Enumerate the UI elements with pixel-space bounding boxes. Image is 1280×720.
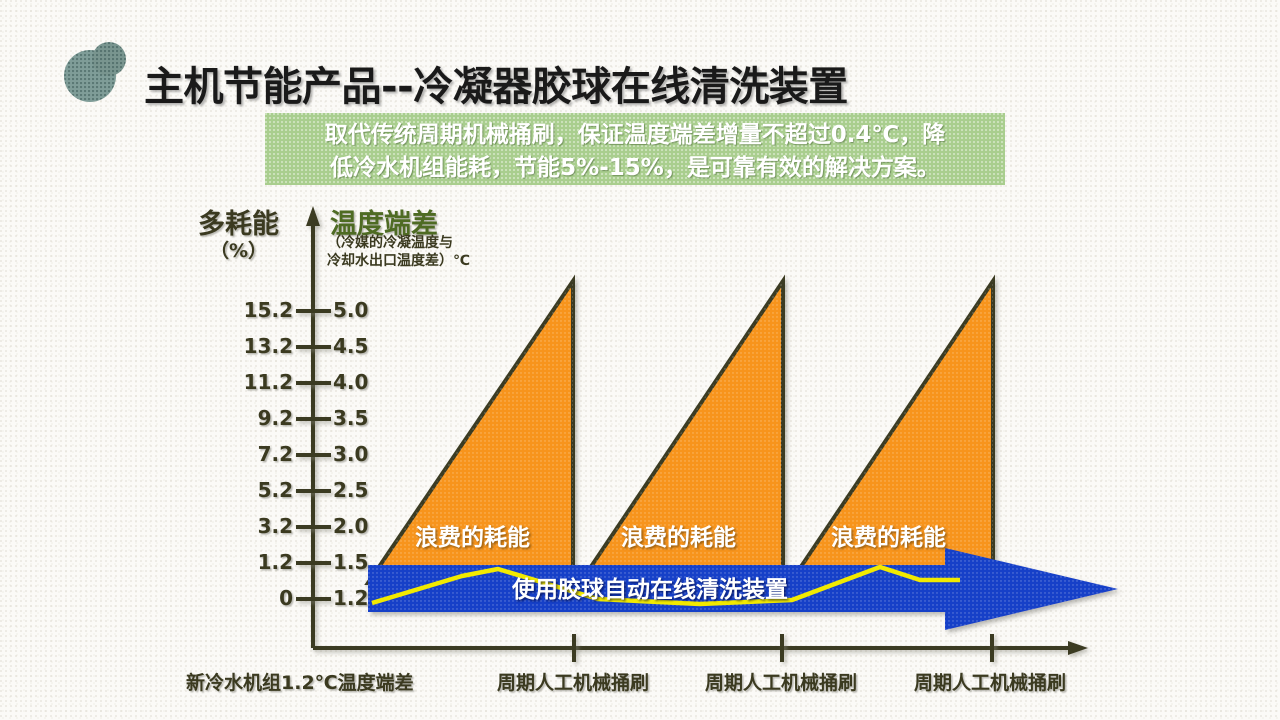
y-tick-right-1: 4.5: [333, 334, 393, 358]
x-tick-label-2: 周期人工机械捅刷: [705, 668, 857, 695]
y-axis: [306, 206, 320, 648]
y-tick-left-4: 7.2: [215, 442, 293, 466]
y-tick-left-2: 11.2: [215, 370, 293, 394]
presentation-slide: 主机节能产品--冷凝器胶球在线清洗装置 取代传统周期机械捅刷，保证温度端差增量不…: [0, 0, 1280, 720]
y-tick-left-7: 1.2: [215, 550, 293, 574]
waste-label-3: 浪费的耗能: [831, 518, 946, 552]
x-axis: [313, 641, 1088, 655]
y-tick-right-0: 5.0: [333, 298, 393, 322]
y-tick-right-4: 3.0: [333, 442, 393, 466]
y-tick-left-6: 3.2: [215, 514, 293, 538]
y-tick-right-3: 3.5: [333, 406, 393, 430]
y-tick-left-0: 15.2: [215, 298, 293, 322]
y-tick-right-8: 1.2: [333, 586, 393, 610]
y-tick-right-6: 2.0: [333, 514, 393, 538]
y-tick-right-2: 4.0: [333, 370, 393, 394]
y-tick-right-7: 1.5: [333, 550, 393, 574]
band-label: 使用胶球自动在线清洗装置: [512, 570, 788, 604]
x-tick-label-1: 周期人工机械捅刷: [497, 668, 649, 695]
waste-label-1: 浪费的耗能: [415, 518, 530, 552]
y-tick-right-5: 2.5: [333, 478, 393, 502]
y-tick-left-1: 13.2: [215, 334, 293, 358]
chart-graphics: [0, 0, 1280, 720]
waste-label-2: 浪费的耗能: [621, 518, 736, 552]
y-tick-left-8: 0: [215, 586, 293, 610]
x-tick-label-0: 新冷水机组1.2℃温度端差: [186, 668, 414, 695]
y-tick-left-5: 5.2: [215, 478, 293, 502]
y-tick-left-3: 9.2: [215, 406, 293, 430]
x-tick-label-3: 周期人工机械捅刷: [914, 668, 1066, 695]
